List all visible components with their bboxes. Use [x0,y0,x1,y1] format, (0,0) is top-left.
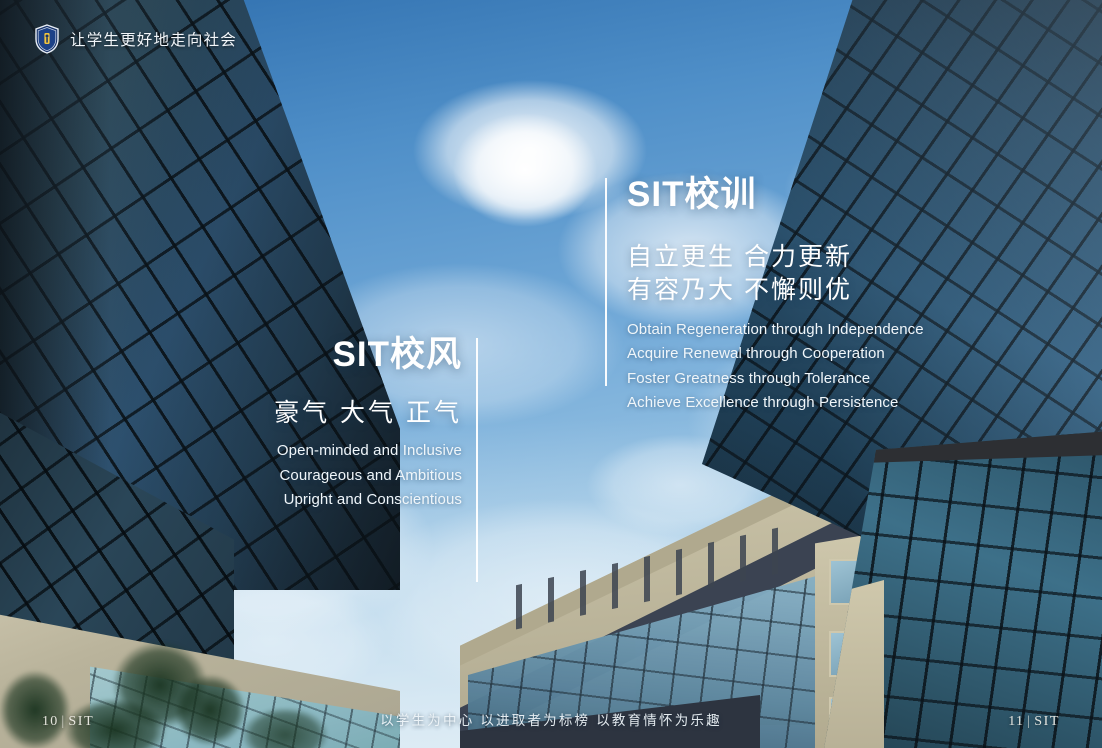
header-tagline: 让学生更好地走向社会 [70,28,237,50]
motto-title: SIT校训 [627,176,924,215]
school-motto-block: SIT校训 自立更生 合力更新 有容乃大 不懈则优 Obtain Regener… [627,176,924,415]
motto-chinese-line-1: 自立更生 合力更新 [627,241,924,275]
shield-emblem-icon [34,24,60,54]
page-number-right: 11 | SIT [1008,714,1060,730]
motto-english-line-2: Acquire Renewal through Cooperation [627,342,924,366]
spirit-english-line-3: Upright and Conscientious [0,488,462,512]
motto-english-line-1: Obtain Regeneration through Independence [627,318,924,342]
motto-english-lines: Obtain Regeneration through Independence… [627,318,924,415]
motto-english-line-3: Foster Greatness through Tolerance [627,367,924,391]
spirit-english-lines: Open-minded and Inclusive Courageous and… [0,439,462,512]
page-number-left-value: 10 [42,714,58,730]
motto-chinese-line-2: 有容乃大 不懈则优 [627,274,924,308]
spirit-title: SIT校风 [0,336,462,375]
spirit-english-line-1: Open-minded and Inclusive [0,439,462,463]
vertical-rule [605,178,607,386]
motto-english-line-4: Achieve Excellence through Persistence [627,391,924,415]
slide-canvas: 让学生更好地走向社会 SIT校风 豪气 大气 正气 Open-minded an… [0,0,1102,748]
page-separator: | [1027,714,1031,730]
page-number-right-value: 11 [1008,714,1024,730]
brand-label-left: SIT [68,714,94,730]
brand-label-right: SIT [1034,714,1060,730]
footer-motto: 以学生为中心 以进取者为标榜 以教育情怀为乐趣 [380,709,722,729]
spirit-chinese-line: 豪气 大气 正气 [0,397,462,431]
school-spirit-block: SIT校风 豪气 大气 正气 Open-minded and Inclusive… [0,336,462,512]
page-separator: | [61,714,65,730]
page-number-left: 10 | SIT [42,714,94,730]
vertical-rule [476,338,478,582]
spirit-english-line-2: Courageous and Ambitious [0,464,462,488]
header-bar: 让学生更好地走向社会 [34,24,237,54]
